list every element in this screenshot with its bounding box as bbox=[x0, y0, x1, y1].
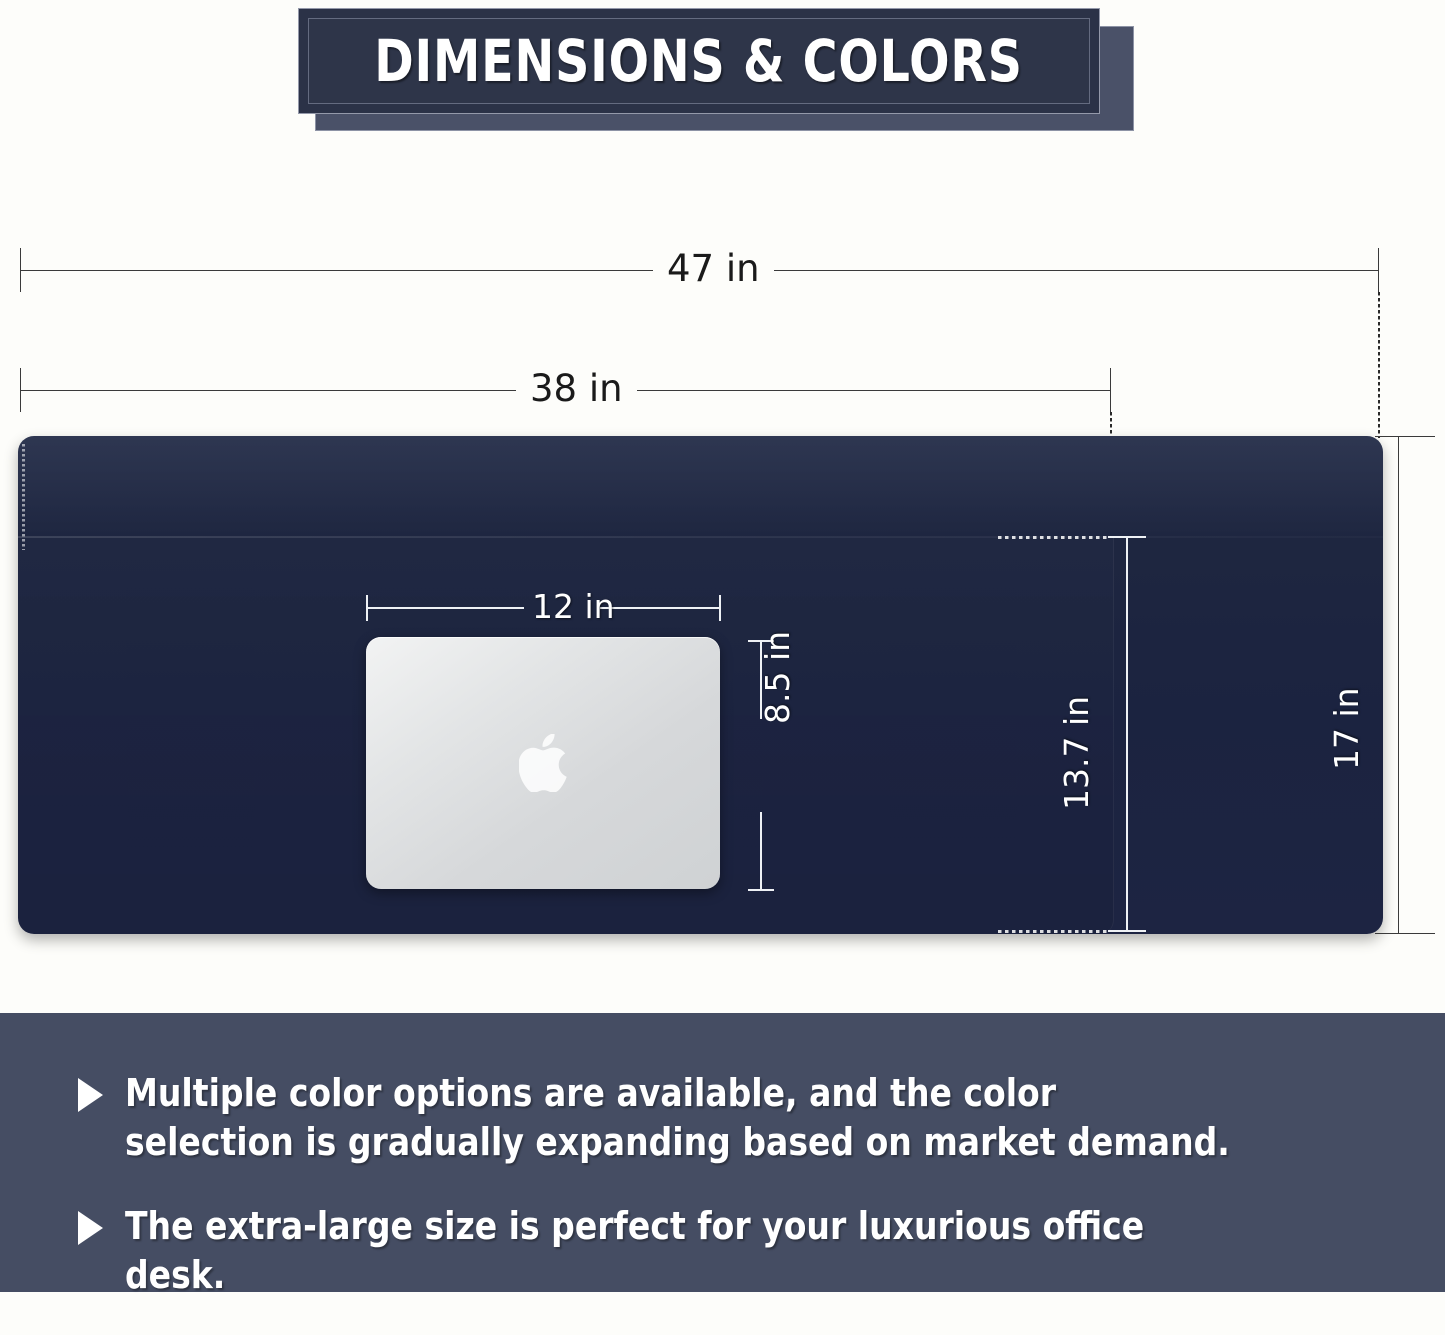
title-banner: DIMENSIONS & COLORS bbox=[298, 8, 1133, 130]
features-list: Multiple color options are available, an… bbox=[78, 1069, 1395, 1335]
dimension-line-17 bbox=[1398, 436, 1399, 934]
dimension-label-inner-width: 38 in bbox=[516, 370, 637, 407]
dimension-line-137 bbox=[1126, 536, 1128, 932]
mat-top-sheen bbox=[18, 436, 1383, 536]
title-banner-inner: DIMENSIONS & COLORS bbox=[308, 18, 1090, 104]
features-panel: Multiple color options are available, an… bbox=[0, 1013, 1445, 1292]
dimension-line-12-left bbox=[366, 607, 524, 609]
dimension-line-85-bottom bbox=[760, 812, 762, 890]
tick-bottom-17 bbox=[1375, 933, 1435, 934]
dimension-label-overall-width: 47 in bbox=[653, 250, 774, 287]
extension-dot-bottom-137 bbox=[998, 930, 1110, 933]
list-item: Multiple color options are available, an… bbox=[78, 1069, 1395, 1168]
tick-top-17 bbox=[1375, 436, 1435, 437]
dimension-line-12-right bbox=[600, 607, 720, 609]
mat-edge-stitch bbox=[22, 444, 25, 550]
tick-bottom-137 bbox=[1108, 930, 1146, 932]
title-banner-frame: DIMENSIONS & COLORS bbox=[298, 8, 1100, 114]
feature-text: Multiple color options are available, an… bbox=[125, 1069, 1230, 1168]
extension-dot-top-137 bbox=[998, 536, 1110, 539]
tick-right-38 bbox=[1110, 368, 1111, 412]
triangle-right-icon bbox=[78, 1211, 103, 1245]
dimension-label-laptop-height: 8.5 in bbox=[761, 631, 794, 724]
list-item: The extra-large size is perfect for your… bbox=[78, 1202, 1395, 1301]
dimension-label-overall-height: 17 in bbox=[1330, 687, 1363, 770]
triangle-right-icon bbox=[78, 1078, 103, 1112]
dimension-label-laptop-width: 12 in bbox=[532, 590, 615, 623]
extension-line-47 bbox=[1378, 292, 1380, 438]
apple-logo-icon bbox=[519, 734, 567, 792]
feature-text: The extra-large size is perfect for your… bbox=[125, 1202, 1230, 1301]
page-title: DIMENSIONS & COLORS bbox=[375, 27, 1024, 95]
tick-right-47 bbox=[1378, 248, 1379, 292]
dimension-label-inner-height: 13.7 in bbox=[1060, 696, 1093, 810]
tick-right-12 bbox=[719, 595, 721, 621]
tick-bottom-85 bbox=[748, 889, 774, 891]
laptop-image bbox=[366, 637, 720, 889]
